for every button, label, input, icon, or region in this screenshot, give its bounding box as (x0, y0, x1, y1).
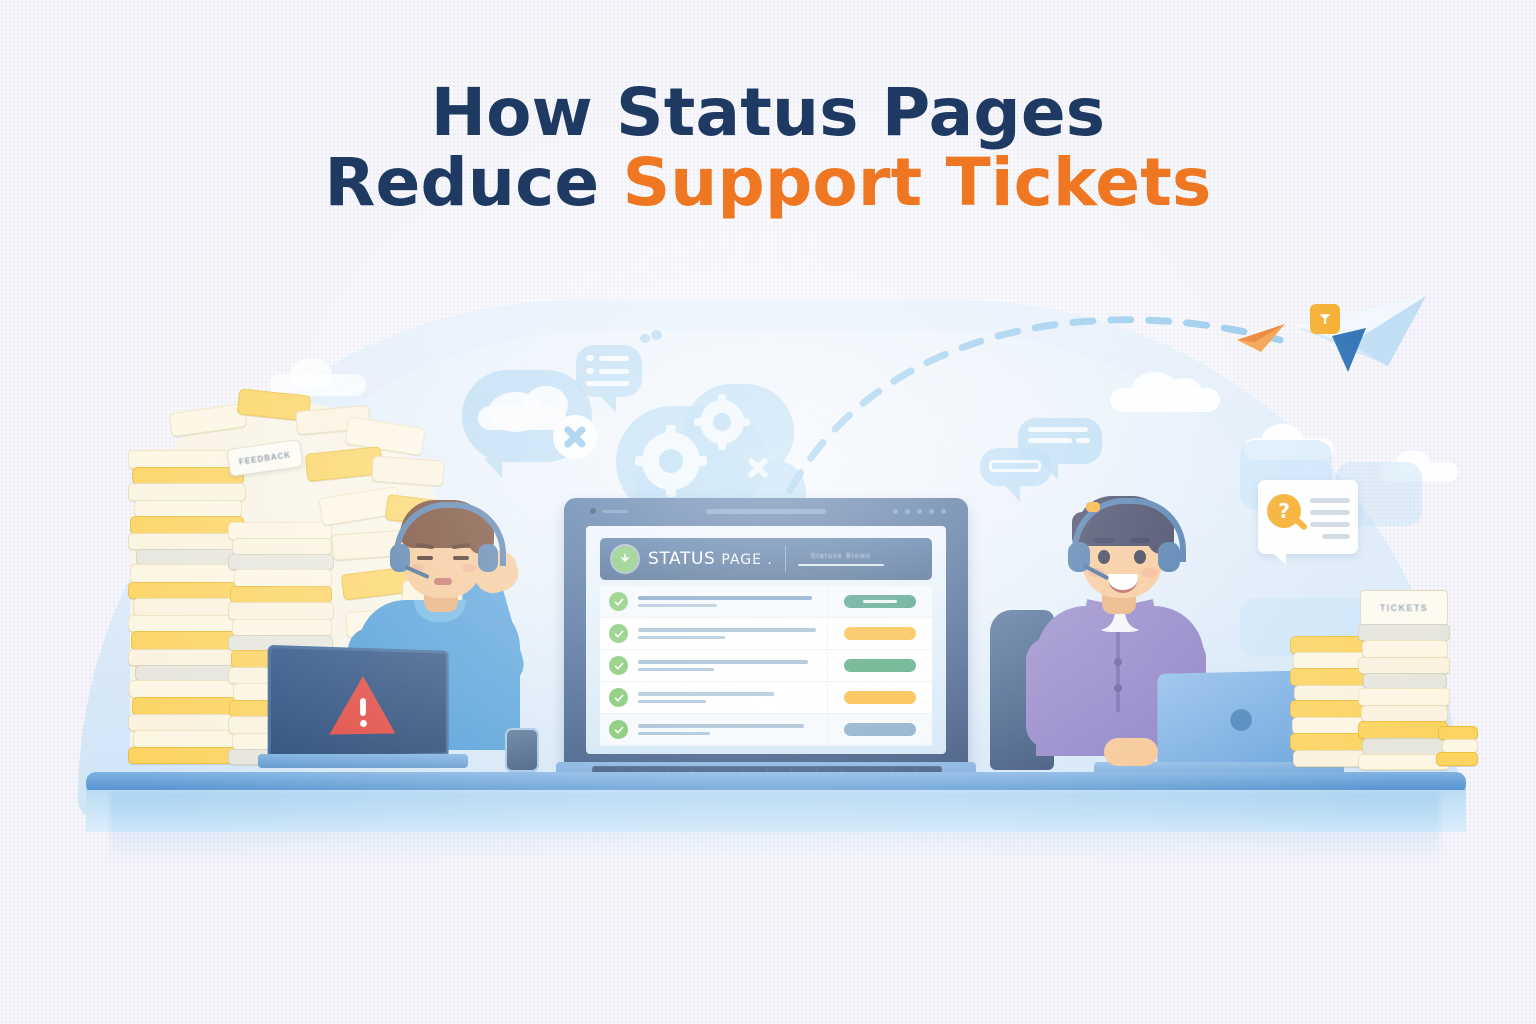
row-text-placeholder (638, 596, 827, 607)
ticket-stack-label-text: TICKETS (1380, 603, 1428, 613)
pile-label-text: FEEDBACK (238, 450, 291, 466)
title-line-2-accent: Support Tickets (623, 144, 1212, 221)
ticket-stack: TICKETS (1290, 590, 1470, 776)
desk-reflection (110, 792, 1440, 862)
download-circle-icon (612, 546, 638, 572)
title-line-2-plain: Reduce (325, 144, 623, 221)
agent-laptop-screen-left (268, 645, 449, 761)
table-row[interactable] (600, 714, 932, 746)
row-text-placeholder (638, 628, 827, 639)
status-page-title-bold: STATUS (648, 549, 715, 569)
title-line-1: How Status Pages (0, 78, 1536, 148)
illustration-canvas: FEEDBACK (0, 0, 1536, 1024)
table-row[interactable] (600, 586, 932, 618)
agent-hand (1104, 738, 1158, 766)
row-text-placeholder (638, 724, 827, 735)
agent-arm-left (1026, 638, 1074, 748)
status-badge[interactable] (828, 659, 932, 672)
paper-plane-icon (1292, 292, 1432, 384)
sparkle-icon (640, 330, 662, 348)
status-page-meta-underline (798, 564, 884, 566)
gear-icon (700, 400, 744, 444)
table-row[interactable] (600, 682, 932, 714)
x-mark-icon (553, 415, 597, 459)
ticket-stack-label: TICKETS (1360, 590, 1448, 626)
laptop-bezel (564, 498, 968, 524)
camera-icon (590, 508, 596, 514)
dashed-trajectory-arc (760, 270, 1340, 500)
send-icon (1310, 304, 1340, 334)
status-page-meta: Statuse Blown (798, 553, 884, 566)
bezel-line (602, 510, 628, 513)
status-badge[interactable] (828, 595, 932, 608)
status-page-title-thin: PAGE . (721, 552, 772, 568)
check-circle-icon (609, 624, 628, 643)
status-badge[interactable] (828, 627, 932, 640)
status-page-meta-text: Statuse Blown (811, 553, 871, 560)
table-row[interactable] (600, 618, 932, 650)
check-circle-icon (609, 592, 628, 611)
status-page-laptop: STATUS PAGE . Statuse Blown (556, 498, 976, 798)
status-badge[interactable] (828, 723, 932, 736)
magnifier-handle-icon (1294, 517, 1308, 531)
status-page-title: STATUS PAGE . (648, 549, 773, 569)
faq-card: ? (1258, 480, 1358, 554)
laptop-lid: STATUS PAGE . Statuse Blown (564, 498, 968, 766)
check-circle-icon (609, 720, 628, 739)
gear-icon (642, 432, 700, 490)
check-circle-icon (609, 688, 628, 707)
check-circle-icon (609, 656, 628, 675)
warning-triangle-icon (329, 676, 395, 735)
header-divider (785, 546, 786, 572)
page-title: How Status Pages Reduce Support Tickets (0, 78, 1536, 218)
speaker-slot (706, 509, 826, 514)
status-page-rows (600, 586, 932, 744)
bezel-dots (893, 509, 946, 514)
row-text-placeholder (638, 660, 827, 671)
status-badge[interactable] (828, 691, 932, 704)
agent-laptop-base-left (258, 754, 468, 768)
row-text-placeholder (638, 692, 827, 703)
title-line-2: Reduce Support Tickets (0, 148, 1536, 218)
table-row[interactable] (600, 650, 932, 682)
paper-plane-small-icon (1235, 318, 1289, 356)
laptop-screen: STATUS PAGE . Statuse Blown (586, 526, 946, 754)
status-page-header: STATUS PAGE . Statuse Blown (600, 538, 932, 580)
desk-device (505, 728, 539, 772)
